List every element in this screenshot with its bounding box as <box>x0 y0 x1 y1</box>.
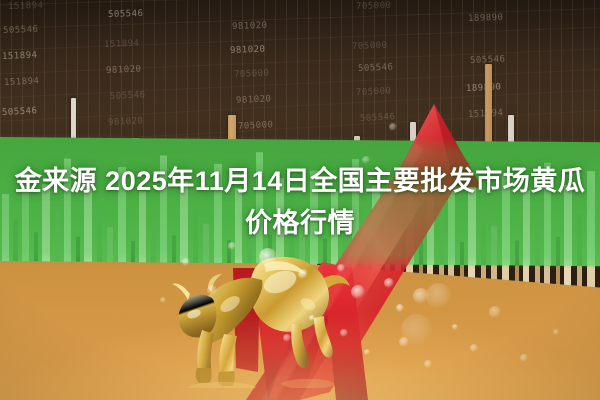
golden-bull-statue <box>168 238 358 388</box>
bull-icon <box>168 238 358 388</box>
stock-market-banner: 1518945055469810207050001898905055461518… <box>0 0 600 400</box>
